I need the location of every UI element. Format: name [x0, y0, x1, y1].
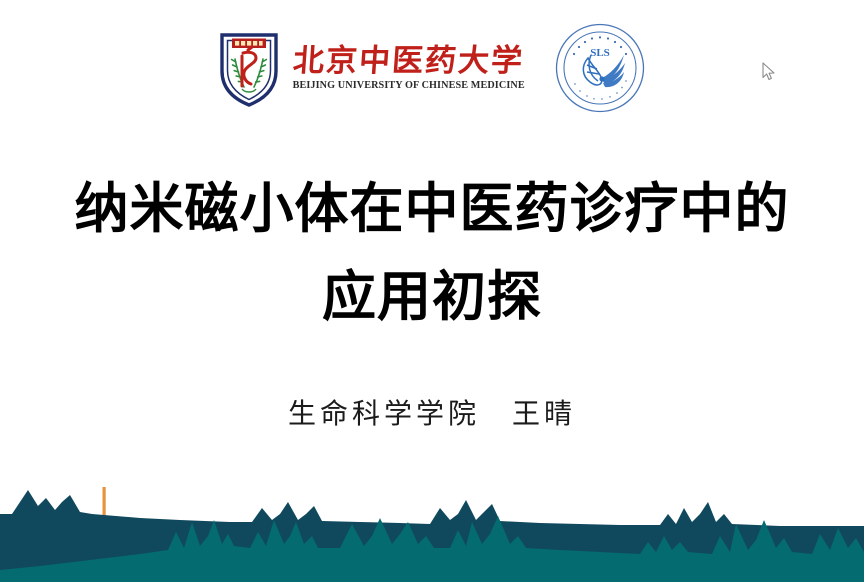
title-line-2: 应用初探 [0, 253, 864, 341]
logo-row: 北京中医药大学 BEIJING UNIVERSITY OF CHINESE ME… [0, 22, 864, 114]
sls-seal-icon: SLS [554, 22, 646, 114]
bucm-shield-icon [218, 29, 280, 107]
university-name-block: 北京中医药大学 BEIJING UNIVERSITY OF CHINESE ME… [289, 45, 528, 91]
university-name-en: BEIJING UNIVERSITY OF CHINESE MEDICINE [292, 80, 524, 91]
presentation-slide: 北京中医药大学 BEIJING UNIVERSITY OF CHINESE ME… [0, 0, 864, 582]
sls-abbreviation: SLS [590, 47, 610, 59]
presenter-subtitle: 生命科学学院 王晴 [0, 392, 864, 432]
title-line-1: 纳米磁小体在中医药诊疗中的 [0, 165, 864, 253]
forest-silhouette-icon [0, 462, 864, 582]
university-logo: 北京中医药大学 BEIJING UNIVERSITY OF CHINESE ME… [218, 29, 528, 107]
page-title: 纳米磁小体在中医药诊疗中的 应用初探 [0, 165, 864, 341]
university-name-cn: 北京中医药大学 [292, 45, 525, 78]
